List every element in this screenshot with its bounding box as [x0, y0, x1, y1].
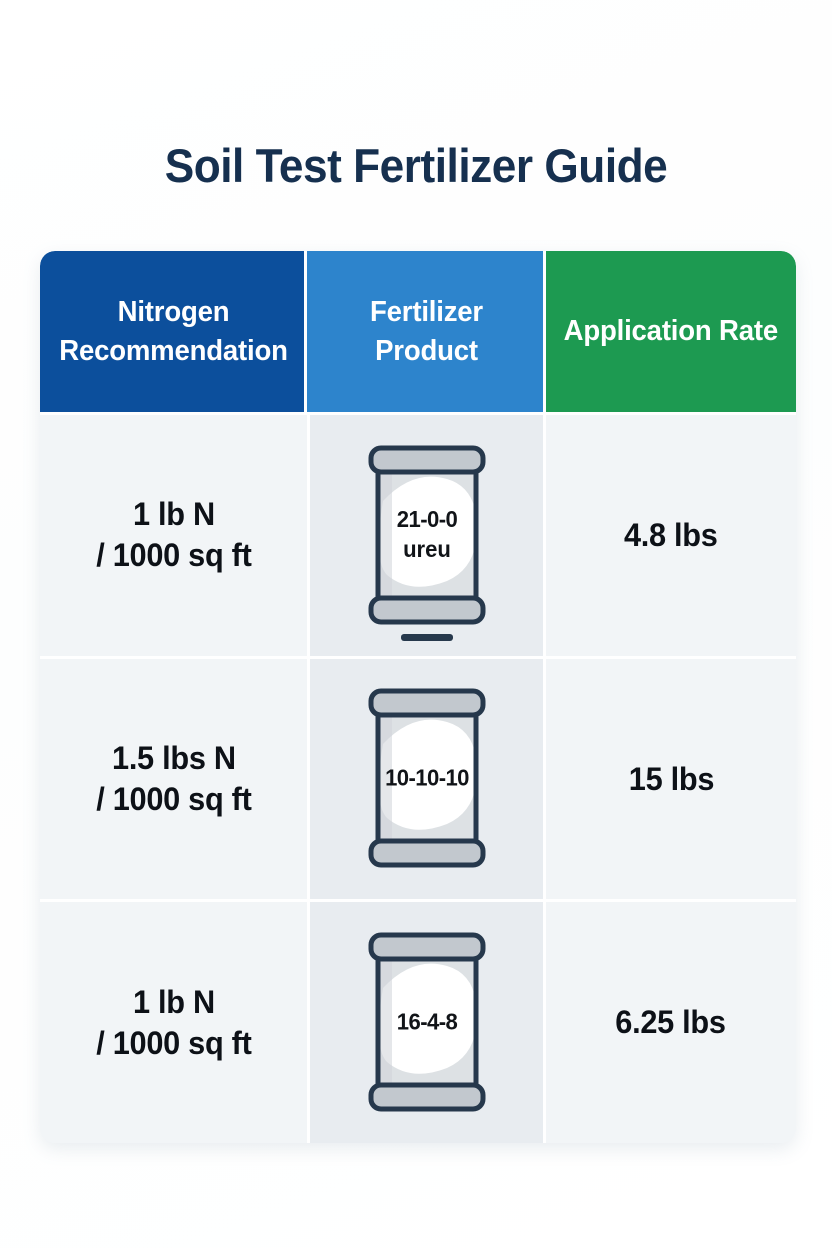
nitrogen-rate-area: / 1000 sq ft [96, 535, 251, 576]
column-header-application-rate-label: Application Rate [564, 312, 778, 350]
page-background: Soil Test Fertilizer Guide Nitrogen Reco… [0, 0, 832, 1248]
table-row: 1 lb N / 1000 sq ft [40, 899, 307, 1143]
application-rate-value: 6.25 lbs [616, 1002, 726, 1043]
header-divider [304, 251, 307, 412]
table-row: 1 lb N / 1000 sq ft [40, 412, 307, 656]
fertilizer-bag-icon: 16-4-8 [365, 930, 489, 1115]
bag-base-dash [401, 634, 453, 641]
table-row: 10-10-10 [307, 656, 546, 900]
nitrogen-rate-area: / 1000 sq ft [96, 779, 251, 820]
fertilizer-bag-graphic [365, 686, 489, 871]
nitrogen-rate-amount: 1 lb N [133, 496, 215, 532]
fertilizer-bag-icon: 21-0-0 ureu [365, 443, 489, 628]
column-header-application-rate: Application Rate [546, 251, 796, 412]
table-row: 6.25 lbs [546, 899, 796, 1143]
fertilizer-bag-graphic [365, 443, 489, 628]
fertilizer-guide-table: Nitrogen Recommendation Fertilizer Produ… [40, 251, 796, 1143]
nitrogen-rate-amount: 1 lb N [133, 984, 215, 1020]
application-rate-value: 15 lbs [628, 759, 713, 800]
table-row: 4.8 lbs [546, 412, 796, 656]
nitrogen-rate-amount: 1.5 lbs N [112, 740, 236, 776]
nitrogen-recommendation-value: 1 lb N / 1000 sq ft [96, 494, 251, 576]
header-divider [543, 251, 546, 412]
fertilizer-bag-icon: 10-10-10 [365, 686, 489, 871]
page-title: Soil Test Fertilizer Guide [25, 138, 807, 193]
column-header-fertilizer-product-label: Fertilizer Product [319, 293, 535, 370]
application-rate-value: 4.8 lbs [624, 515, 718, 556]
column-header-fertilizer-product: Fertilizer Product [307, 251, 546, 412]
table-row: 15 lbs [546, 656, 796, 900]
nitrogen-recommendation-value: 1.5 lbs N / 1000 sq ft [96, 738, 251, 820]
table-row: 21-0-0 ureu [307, 412, 546, 656]
column-header-nitrogen-recommendation: Nitrogen Recommendation [40, 251, 307, 412]
fertilizer-bag-graphic [365, 930, 489, 1115]
table-row: 16-4-8 [307, 899, 546, 1143]
nitrogen-rate-area: / 1000 sq ft [96, 1023, 251, 1064]
column-header-nitrogen-recommendation-label: Nitrogen Recommendation [52, 293, 294, 370]
table-row: 1.5 lbs N / 1000 sq ft [40, 656, 307, 900]
nitrogen-recommendation-value: 1 lb N / 1000 sq ft [96, 982, 251, 1064]
